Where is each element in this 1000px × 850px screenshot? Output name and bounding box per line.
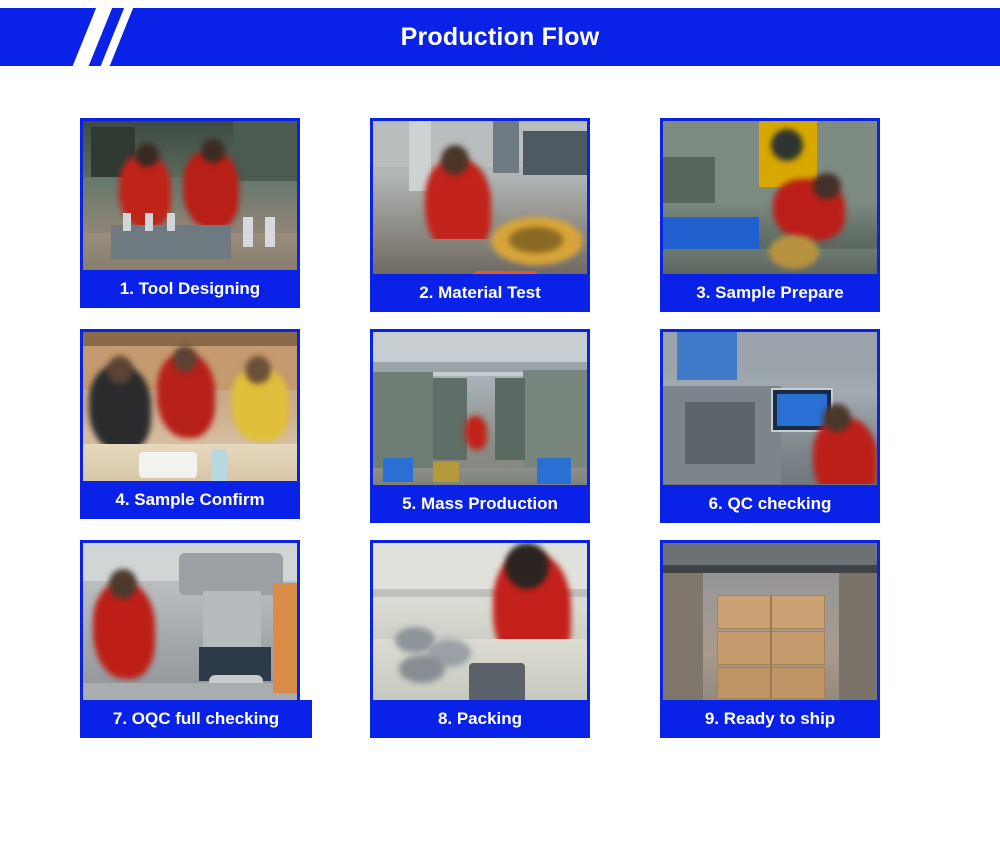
flow-step-card: 4. Sample Confirm — [80, 329, 300, 507]
step-photo-sample-prepare — [660, 118, 880, 296]
step-photo-oqc-full-checking — [80, 540, 300, 718]
step-photo-material-test — [370, 118, 590, 296]
step-label: 1. Tool Designing — [80, 270, 300, 308]
step-label: 5. Mass Production — [370, 485, 590, 523]
page-title: Production Flow — [0, 8, 1000, 66]
step-photo-qc-checking — [660, 329, 880, 507]
step-label: 3. Sample Prepare — [660, 274, 880, 312]
flow-step-card: 7. OQC full checking — [80, 540, 300, 718]
flow-step-card: 8. Packing — [370, 540, 590, 718]
step-label: 2. Material Test — [370, 274, 590, 312]
step-label: 8. Packing — [370, 700, 590, 738]
flow-step-card: 9. Ready to ship — [660, 540, 880, 718]
step-label: 4. Sample Confirm — [80, 481, 300, 519]
step-label: 9. Ready to ship — [660, 700, 880, 738]
production-flow-grid: 1. Tool Designing 2. Material Test — [80, 118, 920, 718]
page-header-banner: Production Flow — [0, 8, 1000, 66]
step-photo-packing — [370, 540, 590, 718]
step-label: 6. QC checking — [660, 485, 880, 523]
step-label: 7. OQC full checking — [80, 700, 312, 738]
step-photo-mass-production — [370, 329, 590, 507]
flow-step-card: 6. QC checking — [660, 329, 880, 507]
step-photo-ready-to-ship — [660, 540, 880, 718]
flow-step-card: 2. Material Test — [370, 118, 590, 296]
flow-step-card: 1. Tool Designing — [80, 118, 300, 296]
flow-step-card: 3. Sample Prepare — [660, 118, 880, 296]
flow-step-card: 5. Mass Production — [370, 329, 590, 507]
